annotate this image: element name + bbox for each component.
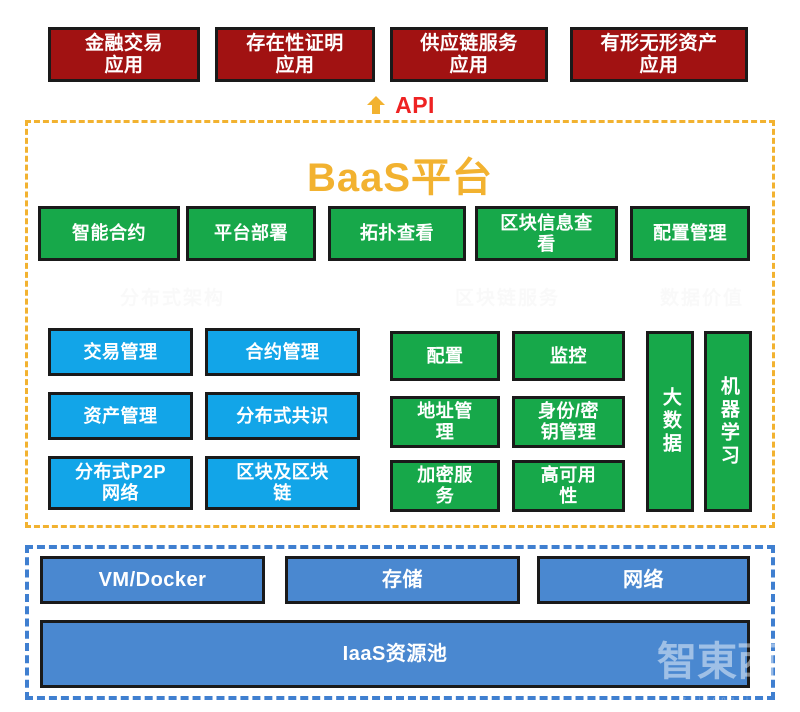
ops-box-line1: 配置 xyxy=(423,346,468,367)
svc-box-topology-view: 拓扑查看 xyxy=(328,206,466,261)
ops-box-line1: 监控 xyxy=(546,346,591,367)
svc-box-line1: 平台部署 xyxy=(210,223,292,244)
core-box-transaction-management: 交易管理 xyxy=(48,328,193,376)
app-box-line2: 应用 xyxy=(416,55,522,77)
infra-box-vm-docker: VM/Docker xyxy=(40,556,265,604)
svc-box-platform-deployment: 平台部署 xyxy=(186,206,316,261)
svc-box-smart-contract: 智能合约 xyxy=(38,206,180,261)
core-box-line2: 网络 xyxy=(71,483,170,504)
svc-box-line1: 配置管理 xyxy=(649,223,731,244)
ops-box-line1: 加密服 xyxy=(413,465,477,486)
ops-box-line2: 理 xyxy=(413,422,477,443)
svc-box-line1: 区块信息查 xyxy=(496,213,597,234)
core-box-line1: 分布式P2P xyxy=(71,462,170,483)
ops-box-line2: 务 xyxy=(413,486,477,507)
svc-box-config-management: 配置管理 xyxy=(630,206,750,261)
api-connector: API xyxy=(0,90,800,120)
ops-box-line2: 性 xyxy=(537,486,601,507)
ops-box-line1: 身份/密 xyxy=(534,401,603,422)
core-box-line2: 链 xyxy=(232,483,333,504)
api-label: API xyxy=(395,92,435,119)
app-box-line1: 存在性证明 xyxy=(242,33,348,55)
ghost-caption-blockchain-service: 区块链服务 xyxy=(455,283,560,310)
ops-box-line1: 地址管 xyxy=(413,401,477,422)
ops-box-identity-key-management: 身份/密 钥管理 xyxy=(512,396,625,448)
core-box-line1: 合约管理 xyxy=(242,342,324,363)
core-box-block-and-chain: 区块及区块 链 xyxy=(205,456,360,510)
svc-box-block-info-query: 区块信息查 看 xyxy=(475,206,618,261)
core-box-asset-management: 资产管理 xyxy=(48,392,193,440)
core-box-contract-management: 合约管理 xyxy=(205,328,360,376)
infra-box-storage: 存储 xyxy=(285,556,520,604)
ops-box-encryption-service: 加密服 务 xyxy=(390,460,500,512)
ops-box-high-availability: 高可用 性 xyxy=(512,460,625,512)
ops-box-address-management: 地址管 理 xyxy=(390,396,500,448)
core-box-line1: 分布式共识 xyxy=(232,406,333,427)
svc-box-line1: 拓扑查看 xyxy=(356,223,438,244)
architecture-diagram: 金融交易 应用 存在性证明 应用 供应链服务 应用 有形无形资产 应用 API … xyxy=(0,0,800,712)
app-box-proof-of-existence: 存在性证明 应用 xyxy=(215,27,375,82)
infra-box-network: 网络 xyxy=(537,556,750,604)
baas-platform-title: BaaS平台 xyxy=(28,145,772,203)
ops-box-monitoring: 监控 xyxy=(512,331,625,381)
core-box-p2p-network: 分布式P2P 网络 xyxy=(48,456,193,510)
ops-box-line1: 高可用 xyxy=(537,465,601,486)
arrow-up-icon xyxy=(365,94,387,116)
ghost-caption-data-value: 数据价值 xyxy=(660,283,744,310)
app-box-line2: 应用 xyxy=(81,55,167,77)
svc-box-line2: 看 xyxy=(496,234,597,255)
app-box-line2: 应用 xyxy=(242,55,348,77)
core-box-distributed-consensus: 分布式共识 xyxy=(205,392,360,440)
vertical-box-big-data: 大数据 xyxy=(646,331,694,512)
core-box-line1: 交易管理 xyxy=(80,342,162,363)
ghost-caption-distributed: 分布式架构 xyxy=(120,283,225,310)
app-box-supply-chain-service: 供应链服务 应用 xyxy=(390,27,548,82)
app-box-tangible-intangible-assets: 有形无形资产 应用 xyxy=(570,27,748,82)
svc-box-line1: 智能合约 xyxy=(68,223,150,244)
app-box-line2: 应用 xyxy=(596,55,721,77)
app-box-line1: 有形无形资产 xyxy=(596,33,721,55)
core-box-line1: 区块及区块 xyxy=(232,462,333,483)
core-box-line1: 资产管理 xyxy=(80,406,162,427)
app-box-financial-transaction: 金融交易 应用 xyxy=(48,27,200,82)
ops-box-line2: 钥管理 xyxy=(534,422,603,443)
ops-box-configuration: 配置 xyxy=(390,331,500,381)
infra-box-iaas-resource-pool: IaaS资源池 xyxy=(40,620,750,688)
vertical-box-machine-learning: 机器学习 xyxy=(704,331,752,512)
app-box-line1: 供应链服务 xyxy=(416,33,522,55)
app-box-line1: 金融交易 xyxy=(81,33,167,55)
